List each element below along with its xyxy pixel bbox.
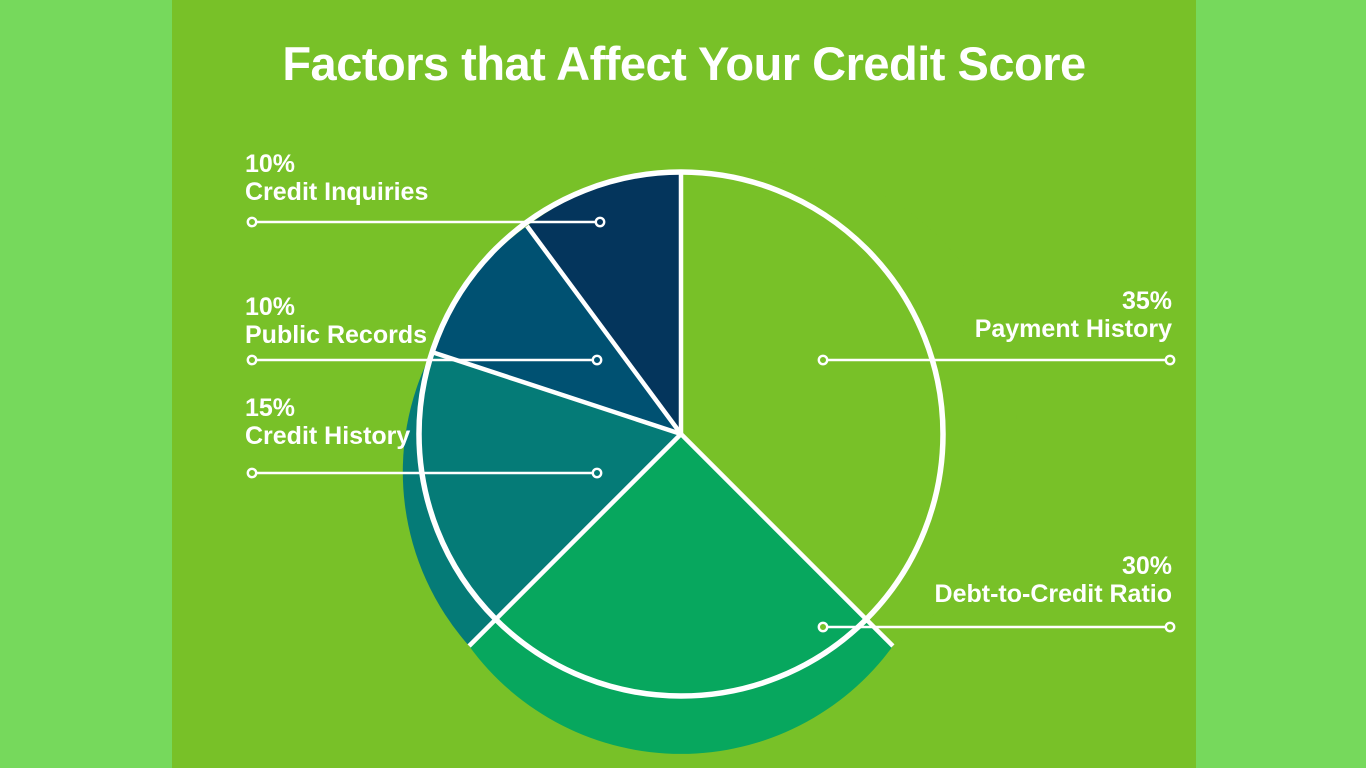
callout-label: Credit History [245,422,410,450]
callout-label: Debt-to-Credit Ratio [935,580,1172,608]
callout-percent: 10% [245,293,427,321]
callout-credit-history: 15% Credit History [245,394,410,450]
callout-percent: 30% [935,552,1172,580]
callout-label: Public Records [245,321,427,349]
callout-percent: 10% [245,150,428,178]
pie-chart [0,0,1366,768]
callout-label: Payment History [975,315,1172,343]
callout-percent: 35% [975,287,1172,315]
callout-debt-to-credit-ratio: 30% Debt-to-Credit Ratio [935,552,1172,608]
callout-public-records: 10% Public Records [245,293,427,349]
callout-label: Credit Inquiries [245,178,428,206]
infographic-canvas: Factors that Affect Your Credit Score [0,0,1366,768]
callout-credit-inquiries: 10% Credit Inquiries [245,150,428,206]
callout-payment-history: 35% Payment History [975,287,1172,343]
callout-percent: 15% [245,394,410,422]
